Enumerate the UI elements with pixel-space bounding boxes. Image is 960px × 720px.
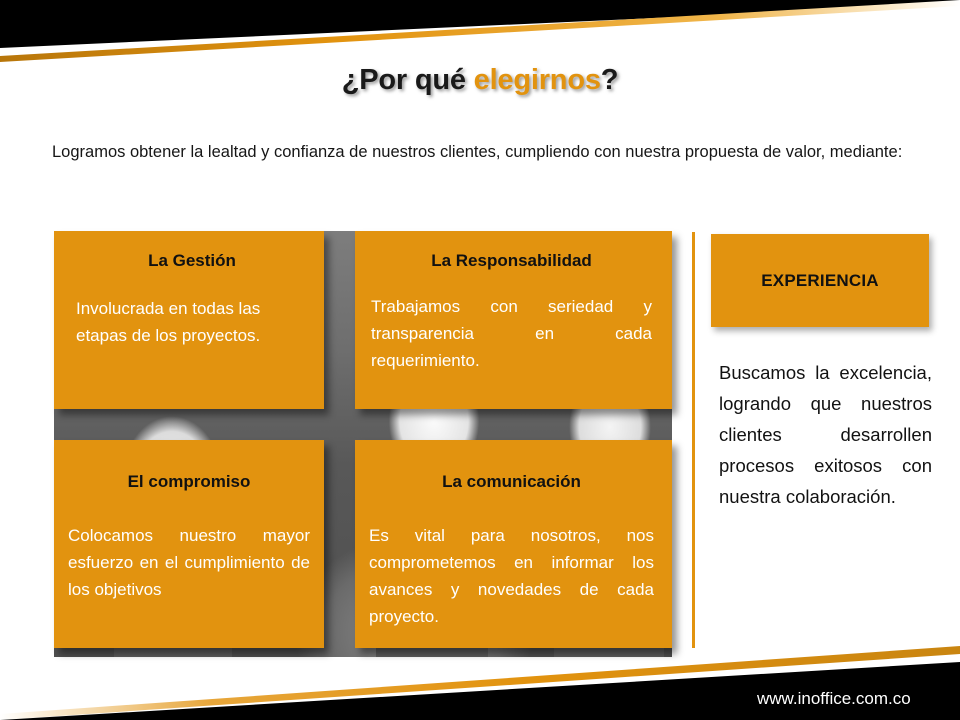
feature-box-body: Es vital para nosotros, nos comprometemo… xyxy=(369,522,654,630)
feature-box-title: La comunicación xyxy=(369,472,654,492)
feature-box-gestion[interactable]: La Gestión Involucrada en todas las etap… xyxy=(54,231,324,409)
feature-box-title: La Responsabilidad xyxy=(371,251,652,271)
feature-box-body: Involucrada en todas las etapas de los p… xyxy=(76,295,308,349)
page-title: ¿Por qué elegirnos? xyxy=(0,64,960,97)
footer-website-url[interactable]: www.inoffice.com.co xyxy=(757,689,911,709)
feature-box-compromiso[interactable]: El compromiso Colocamos nuestro mayor es… xyxy=(54,440,324,648)
intro-paragraph: Logramos obtener la lealtad y confianza … xyxy=(52,139,920,165)
feature-box-title: La Gestión xyxy=(76,251,308,271)
experiencia-badge-label: EXPERIENCIA xyxy=(761,271,878,291)
vertical-divider-rule xyxy=(692,232,695,648)
feature-box-comunicacion[interactable]: La comunicación Es vital para nosotros, … xyxy=(355,440,672,648)
feature-box-title: El compromiso xyxy=(68,472,310,492)
experiencia-badge[interactable]: EXPERIENCIA xyxy=(711,234,929,327)
slide-canvas: ¿Por qué elegirnos? Logramos obtener la … xyxy=(0,0,960,720)
experiencia-body-text: Buscamos la excelencia, logrando que nue… xyxy=(719,357,932,512)
title-highlight-text: elegirnos xyxy=(474,64,601,96)
title-suffix-text: ? xyxy=(601,64,619,96)
feature-box-responsabilidad[interactable]: La Responsabilidad Trabajamos con seried… xyxy=(355,231,672,409)
feature-box-body: Trabajamos con seriedad y transparencia … xyxy=(371,293,652,374)
title-prefix-text: ¿Por qué xyxy=(342,64,474,96)
feature-box-body: Colocamos nuestro mayor esfuerzo en el c… xyxy=(68,522,310,603)
